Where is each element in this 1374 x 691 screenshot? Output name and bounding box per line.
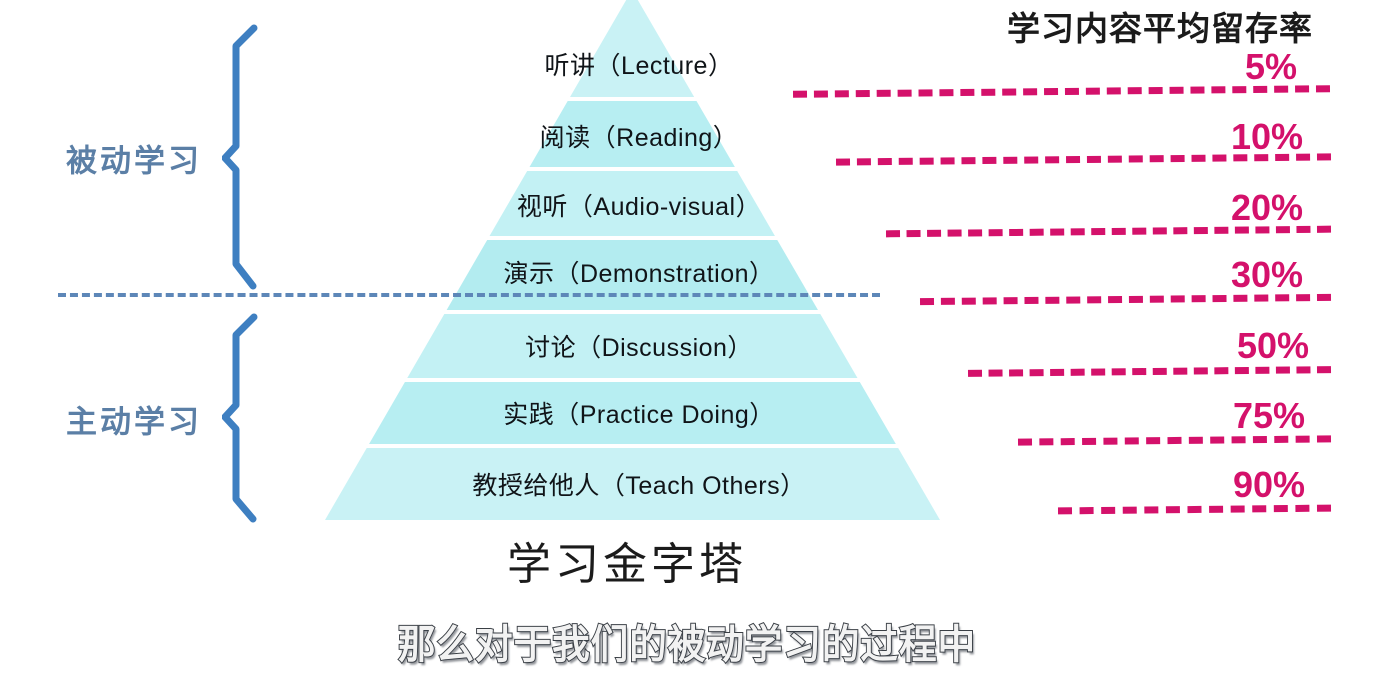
- learning-pyramid-infographic: 学习内容平均留存率 听讲（Lecture） 阅读（Reading） 视听（Aud…: [0, 0, 1374, 691]
- category-label-passive-learning: 被动学习: [66, 136, 202, 181]
- retention-value-10: 10%: [1231, 116, 1303, 158]
- tier-label-audio-visual: 视听（Audio-visual）: [517, 187, 761, 223]
- brace-passive-learning: [222, 24, 270, 297]
- retention-value-5: 5%: [1245, 46, 1297, 88]
- retention-value-75: 75%: [1233, 395, 1305, 437]
- tier-label-reading: 阅读（Reading）: [540, 118, 739, 154]
- category-label-active-learning: 主动学习: [66, 397, 202, 442]
- chart-title: 学习金字塔: [0, 528, 1374, 592]
- leader-line-50: [968, 366, 1331, 377]
- chart-title-text: 学习金字塔: [507, 528, 747, 592]
- retention-value-90: 90%: [1233, 464, 1305, 506]
- retention-value-50: 50%: [1237, 325, 1309, 367]
- brace-active-learning: [222, 313, 270, 528]
- tier-label-practice-doing: 实践（Practice Doing）: [503, 395, 775, 431]
- passive-active-divider: [58, 293, 880, 297]
- video-caption: 那么对于我们的被动学习的过程中: [41, 612, 1333, 670]
- retention-value-20: 20%: [1231, 187, 1303, 229]
- tier-label-lecture: 听讲（Lecture）: [545, 46, 734, 82]
- tier-label-teach-others: 教授给他人（Teach Others）: [472, 466, 805, 502]
- tier-label-discussion: 讨论（Discussion）: [525, 328, 753, 364]
- retention-value-30: 30%: [1231, 254, 1303, 296]
- leader-line-90: [1058, 505, 1331, 515]
- tier-label-demonstration: 演示（Demonstration）: [503, 254, 774, 290]
- retention-rate-heading: 学习内容平均留存率: [955, 2, 1365, 50]
